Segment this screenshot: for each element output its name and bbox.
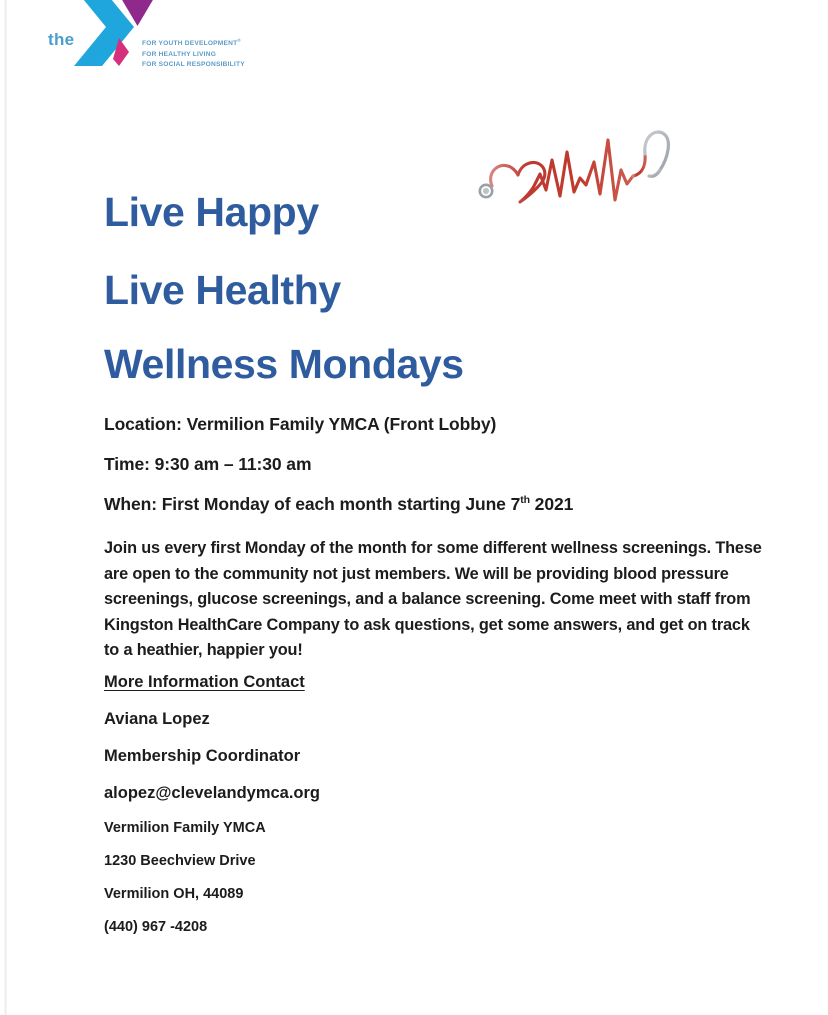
- tagline-line-1: FOR YOUTH DEVELOPMENT®: [142, 36, 245, 50]
- page-edge-line: [4, 0, 7, 1015]
- contact-phone[interactable]: (440) 967 -4208: [104, 919, 207, 935]
- logo-tagline: FOR YOUTH DEVELOPMENT® FOR HEALTHY LIVIN…: [142, 36, 245, 71]
- address-line-1: Vermilion Family YMCA: [104, 820, 266, 836]
- flyer-page: the FOR YOUTH DEVELOPMENT® FOR HEALTHY L…: [0, 0, 828, 1015]
- contact-name: Aviana Lopez: [104, 710, 210, 729]
- tagline-line-3: FOR SOCIAL RESPONSIBILITY: [142, 60, 245, 71]
- address-line-3: Vermilion OH, 44089: [104, 886, 243, 902]
- body-paragraph: Join us every first Monday of the month …: [104, 536, 764, 664]
- detail-location: Location: Vermilion Family YMCA (Front L…: [104, 414, 496, 435]
- contact-email[interactable]: alopez@clevelandymca.org: [104, 784, 320, 803]
- logo-the-text: the: [48, 30, 74, 50]
- detail-when: When: First Monday of each month startin…: [104, 494, 573, 515]
- headline-wellness-mondays: Wellness Mondays: [104, 344, 464, 385]
- headline-live-happy: Live Happy: [104, 192, 319, 233]
- detail-when-prefix: When: First Monday of each month startin…: [104, 494, 520, 514]
- ymca-logo: the FOR YOUTH DEVELOPMENT® FOR HEALTHY L…: [40, 0, 300, 80]
- stethoscope-heart-ekg-icon: [470, 122, 675, 217]
- detail-when-suffix: 2021: [530, 494, 573, 514]
- contact-heading: More Information Contact: [104, 673, 305, 692]
- detail-time: Time: 9:30 am – 11:30 am: [104, 454, 311, 475]
- detail-when-ordinal: th: [520, 494, 530, 506]
- address-line-2: 1230 Beechview Drive: [104, 853, 256, 869]
- contact-title: Membership Coordinator: [104, 747, 300, 766]
- tagline-line-2: FOR HEALTHY LIVING: [142, 50, 245, 61]
- headline-live-healthy: Live Healthy: [104, 270, 341, 311]
